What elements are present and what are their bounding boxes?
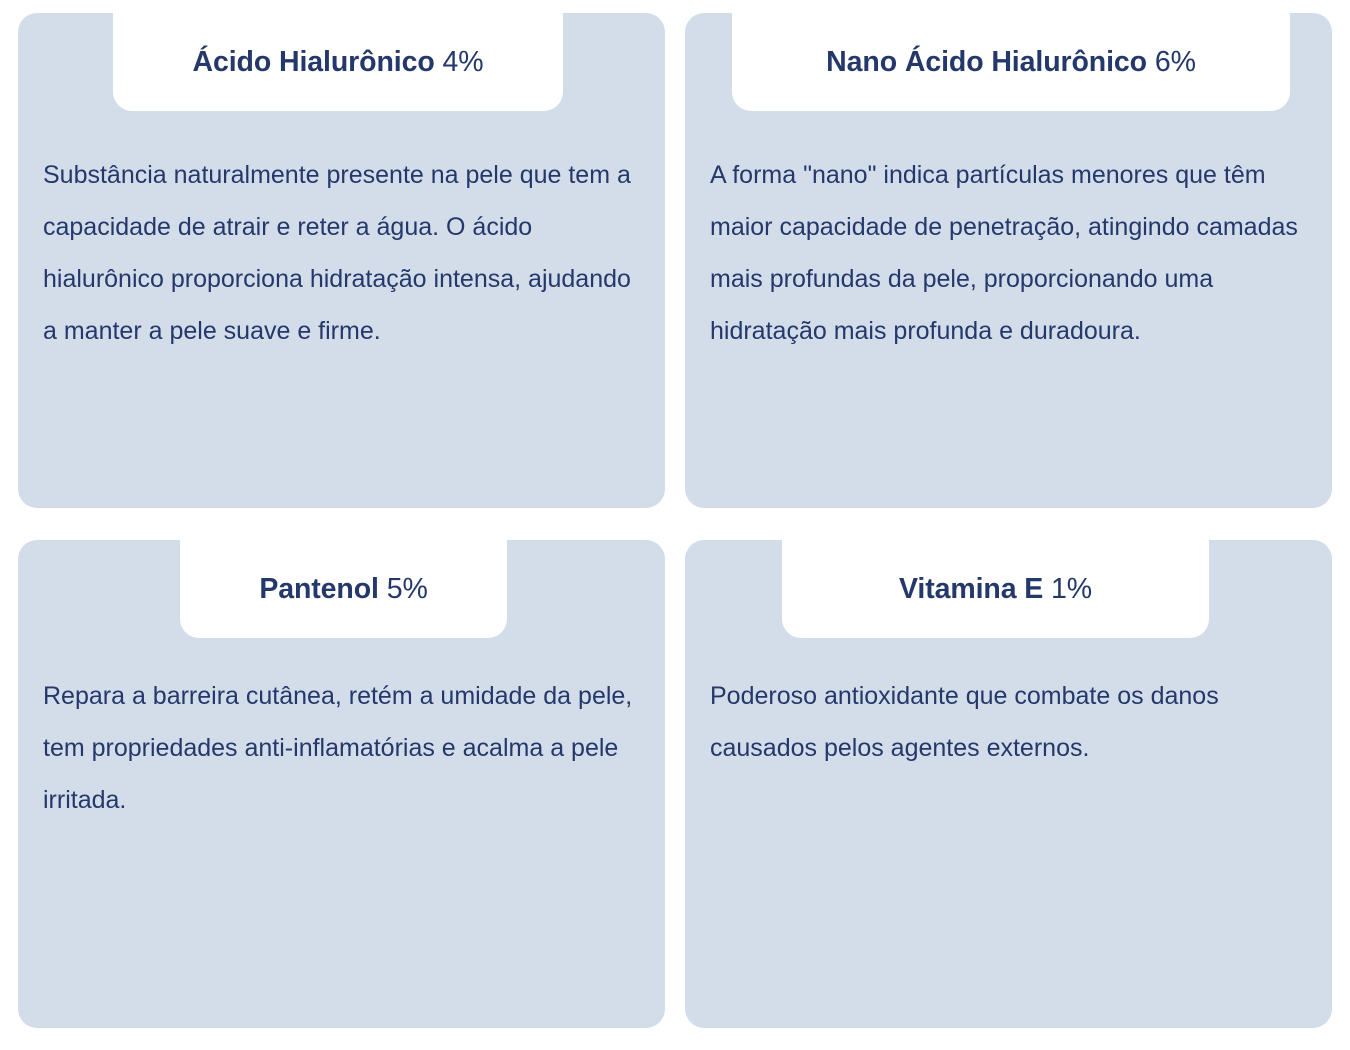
ingredient-card: Vitamina E 1% Poderoso antioxidante que … bbox=[685, 540, 1332, 1028]
ingredient-name: Vitamina E bbox=[899, 573, 1043, 605]
ingredient-percentage: 4% bbox=[442, 46, 483, 78]
ingredient-description: Substância naturalmente presente na pele… bbox=[43, 149, 643, 357]
ingredient-title: Nano Ácido Hialurônico 6% bbox=[826, 48, 1196, 77]
ingredient-title-tab: Vitamina E 1% bbox=[782, 540, 1209, 638]
ingredient-title: Ácido Hialurônico 4% bbox=[193, 48, 484, 77]
ingredient-title: Vitamina E 1% bbox=[899, 575, 1092, 604]
ingredient-card: Nano Ácido Hialurônico 6% A forma "nano"… bbox=[685, 13, 1332, 508]
ingredient-percentage: 1% bbox=[1051, 573, 1092, 605]
ingredient-title-tab: Pantenol 5% bbox=[180, 540, 507, 638]
ingredient-percentage: 5% bbox=[387, 573, 428, 605]
ingredient-card: Pantenol 5% Repara a barreira cutânea, r… bbox=[18, 540, 665, 1028]
ingredient-title: Pantenol 5% bbox=[259, 575, 427, 604]
ingredient-title-tab: Ácido Hialurônico 4% bbox=[113, 13, 563, 111]
ingredient-name: Pantenol bbox=[259, 573, 379, 605]
ingredient-description: Repara a barreira cutânea, retém a umida… bbox=[43, 670, 643, 826]
ingredient-card: Ácido Hialurônico 4% Substância naturalm… bbox=[18, 13, 665, 508]
ingredient-percentage: 6% bbox=[1155, 46, 1196, 78]
ingredient-description: Poderoso antioxidante que combate os dan… bbox=[710, 670, 1310, 774]
ingredient-card-grid: Ácido Hialurônico 4% Substância naturalm… bbox=[18, 13, 1332, 1028]
ingredient-name: Ácido Hialurônico bbox=[193, 46, 435, 78]
ingredient-title-tab: Nano Ácido Hialurônico 6% bbox=[732, 13, 1290, 111]
ingredient-description: A forma "nano" indica partículas menores… bbox=[710, 149, 1310, 357]
ingredient-name: Nano Ácido Hialurônico bbox=[826, 46, 1147, 78]
